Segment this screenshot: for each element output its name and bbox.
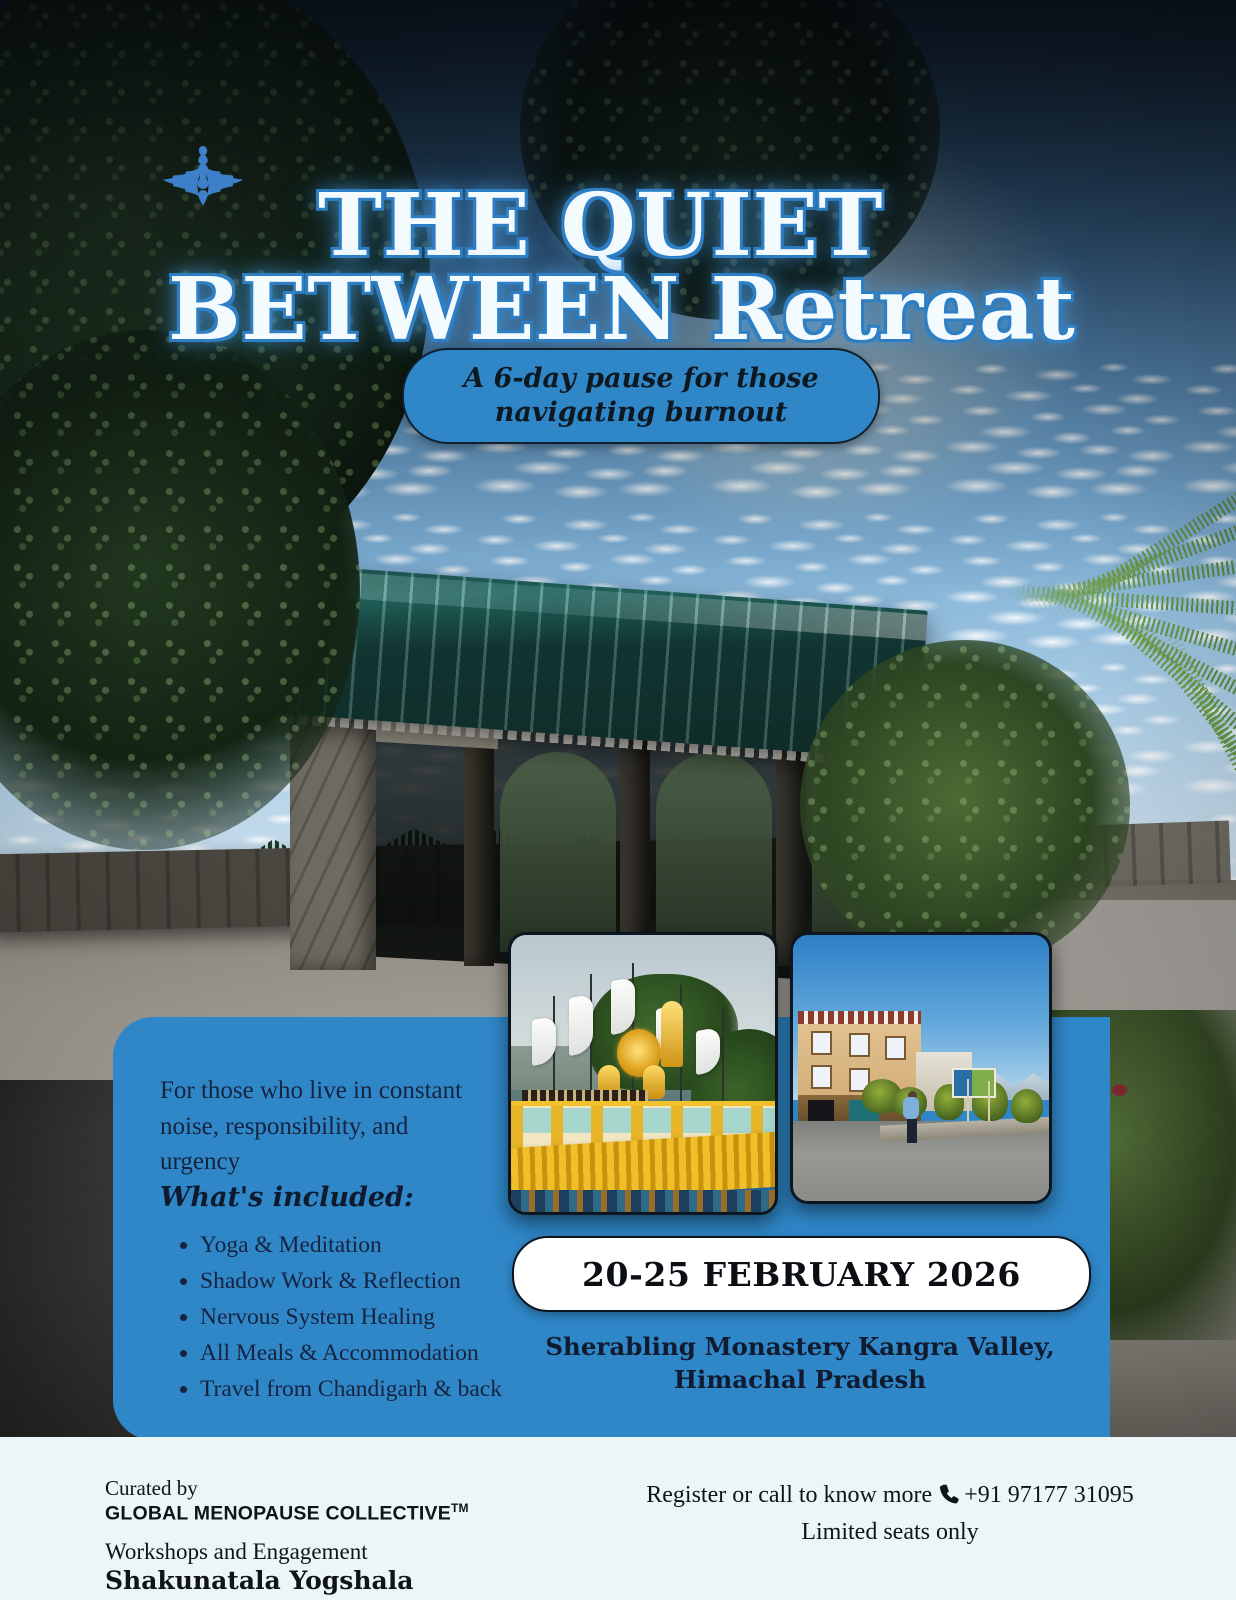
phone-icon: [937, 1480, 959, 1515]
register-text: Register or call to know more: [646, 1482, 932, 1508]
limited-seats-note: Limited seats only: [620, 1515, 1160, 1550]
partner-name: Shakunatala Yogshala: [105, 1566, 525, 1597]
phone-number[interactable]: +91 97177 31095: [964, 1482, 1134, 1508]
list-item: Nervous System Healing: [200, 1300, 570, 1336]
title-between: BETWEEN: [168, 259, 710, 360]
location-line-2: Himachal Pradesh: [674, 1365, 926, 1394]
curated-by-label: Curated by: [105, 1477, 525, 1501]
footer-contact: Register or call to know more+91 97177 3…: [620, 1478, 1160, 1550]
title-line-1: THE QUIET: [168, 184, 1108, 268]
organisation-text: GLOBAL MENOPAUSE COLLECTIVE: [105, 1502, 451, 1524]
trademark-mark: TM: [451, 1501, 469, 1515]
event-dates-badge: 20-25 FEBRUARY 2026: [512, 1236, 1091, 1312]
workshops-label: Workshops and Engagement: [105, 1538, 525, 1566]
page-title: THE QUIET BETWEEN Retreat: [168, 184, 1108, 353]
title-line-2: BETWEEN Retreat: [168, 268, 1108, 352]
event-location: Sherabling Monastery Kangra Valley, Hima…: [520, 1330, 1080, 1397]
subtitle-line-1: A 6-day pause for those: [463, 363, 818, 394]
location-line-1: Sherabling Monastery Kangra Valley,: [545, 1332, 1054, 1361]
subtitle-line-2: navigating burnout: [495, 397, 788, 428]
list-item: All Meals & Accommodation: [200, 1336, 570, 1372]
included-heading: What's included:: [160, 1182, 414, 1213]
subtitle-text: A 6-day pause for thosenavigating burnou…: [463, 362, 818, 430]
footer-credits: Curated by GLOBAL MENOPAUSE COLLECTIVETM…: [105, 1477, 525, 1597]
monastery-golden-roof-photo: [508, 932, 778, 1215]
title-retreat: Retreat: [710, 259, 1075, 360]
included-list: Yoga & Meditation Shadow Work & Reflecti…: [170, 1228, 570, 1408]
monastery-residence-photo: [790, 932, 1052, 1204]
register-line: Register or call to know more+91 97177 3…: [620, 1478, 1160, 1515]
subtitle-badge: A 6-day pause for thosenavigating burnou…: [402, 348, 880, 444]
list-item: Travel from Chandigarh & back: [200, 1372, 570, 1408]
panel-intro-text: For those who live in constant noise, re…: [160, 1073, 490, 1180]
retreat-poster: THE QUIET BETWEEN Retreat A 6-day pause …: [0, 0, 1236, 1600]
organisation-name: GLOBAL MENOPAUSE COLLECTIVETM: [105, 1501, 525, 1526]
event-dates: 20-25 FEBRUARY 2026: [582, 1255, 1021, 1294]
